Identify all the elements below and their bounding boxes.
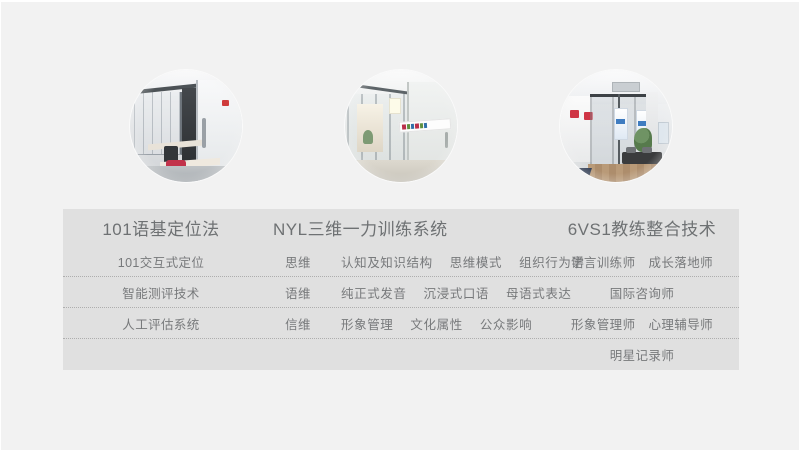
sign-mark-blue-2 — [424, 123, 427, 128]
column-title-2: NYL三维一力训练系统 — [273, 215, 448, 240]
table-header-cell-1: 101语基定位法 — [63, 215, 259, 240]
row-3-cell-roles: 形象管理师 心理辅导师 — [545, 314, 739, 333]
row-1-item-2: 思维模式 — [450, 252, 502, 271]
row-1-role-1: 语言训练师 — [571, 252, 636, 271]
row-3-role-items: 形象管理师 心理辅导师 — [571, 314, 713, 333]
row-3-item-1: 形象管理 — [341, 314, 393, 333]
entrance-mat — [560, 168, 592, 180]
row-1-dimension-label: 思维 — [259, 252, 337, 271]
sign-mark-green — [407, 124, 410, 129]
photo-circle-row — [1, 70, 800, 182]
photo-classroom-glass-partition — [130, 70, 242, 182]
table-row: 明星记录师 — [63, 339, 739, 370]
column-title-1: 101语基定位法 — [102, 215, 219, 240]
row-2-role-items: 国际咨询师 — [610, 283, 675, 302]
row-3-dimension-items: 形象管理 文化属性 公众影响 — [337, 314, 545, 333]
door-handle — [445, 132, 448, 148]
wall-poster — [389, 98, 401, 114]
water-cooler — [658, 122, 669, 144]
lobby-bench — [622, 152, 662, 164]
sign-mark-green-2 — [420, 123, 423, 128]
table-row: 人工评估系统 信维 形象管理 文化属性 公众影响 形象管理师 心理辅导师 — [63, 308, 739, 339]
row-3-dimension-label: 信维 — [259, 314, 337, 333]
row-3-item-3: 公众影响 — [480, 314, 532, 333]
sign-mark-red-2 — [415, 123, 419, 128]
row-2-cell-method: 智能测评技术 — [63, 283, 259, 302]
photo-corridor-door-sign-image — [345, 70, 457, 182]
poster-banner — [614, 108, 628, 140]
potted-plant — [363, 130, 373, 144]
photo-classroom-glass-partition-image — [130, 70, 242, 182]
row-1-item-1: 认知及知识结构 — [341, 252, 433, 271]
row-2-item-2: 沉浸式口语 — [424, 283, 490, 302]
row-2-dimension-items: 纯正式发音 沉浸式口语 母语式表达 — [337, 283, 572, 302]
row-3-cell-method: 人工评估系统 — [63, 314, 259, 333]
row-3-cell-training: 信维 形象管理 文化属性 公众影响 — [259, 314, 545, 333]
red-wall-graphic — [570, 110, 579, 118]
row-2-item-1: 纯正式发音 — [341, 283, 407, 302]
row-3-role-2: 心理辅导师 — [649, 314, 714, 333]
wood-floor — [588, 164, 672, 182]
curriculum-table-panel: 101语基定位法 NYL三维一力训练系统 6VS1教练整合技术 101交互式定位… — [63, 209, 739, 370]
hallway-opening — [357, 104, 383, 152]
row-3-role-1: 形象管理师 — [571, 314, 636, 333]
table-header-cell-2: NYL三维一力训练系统 — [259, 215, 545, 240]
row-2-cell-roles: 国际咨询师 — [545, 283, 739, 302]
photo-corridor-door-sign — [345, 70, 457, 182]
ceiling-vent — [612, 82, 640, 92]
table-row: 智能测评技术 语维 纯正式发音 沉浸式口语 母语式表达 国际咨询师 — [63, 277, 739, 308]
photo-reception-entrance — [560, 70, 672, 182]
row-1-role-items: 语言训练师 成长落地师 — [571, 252, 713, 271]
row-2-dimension-label: 语维 — [259, 283, 337, 302]
row-1-method-label: 101交互式定位 — [118, 252, 205, 271]
row-2-cell-training: 语维 纯正式发音 沉浸式口语 母语式表达 — [259, 283, 545, 302]
row-4-role-1: 明星记录师 — [610, 345, 675, 364]
table-row: 101交互式定位 思维 认知及知识结构 思维模式 组织行为学 语言训练师 成长落… — [63, 246, 739, 277]
row-3-item-2: 文化属性 — [410, 314, 462, 333]
floor-band — [345, 160, 457, 182]
door-handle — [202, 118, 206, 148]
row-3-method-label: 人工评估系统 — [122, 314, 199, 333]
column-title-3: 6VS1教练整合技术 — [568, 215, 717, 240]
side-wall — [560, 96, 592, 162]
sign-mark-red — [402, 124, 406, 129]
red-wall-sign — [222, 100, 229, 106]
row-2-role-1: 国际咨询师 — [610, 283, 675, 302]
photo-reception-entrance-image — [560, 70, 672, 182]
row-2-method-label: 智能测评技术 — [122, 283, 199, 302]
row-1-cell-training: 思维 认知及知识结构 思维模式 组织行为学 — [259, 252, 545, 271]
sign-mark-blue — [411, 124, 414, 129]
row-4-cell-roles: 明星记录师 — [545, 345, 739, 364]
table-header-cell-3: 6VS1教练整合技术 — [545, 215, 739, 240]
slide-canvas: 101语基定位法 NYL三维一力训练系统 6VS1教练整合技术 101交互式定位… — [0, 0, 800, 450]
row-1-cell-method: 101交互式定位 — [63, 252, 259, 271]
row-1-role-2: 成长落地师 — [649, 252, 714, 271]
table-header-row: 101语基定位法 NYL三维一力训练系统 6VS1教练整合技术 — [63, 209, 739, 246]
floor-band — [130, 166, 242, 182]
row-1-cell-roles: 语言训练师 成长落地师 — [545, 252, 739, 271]
